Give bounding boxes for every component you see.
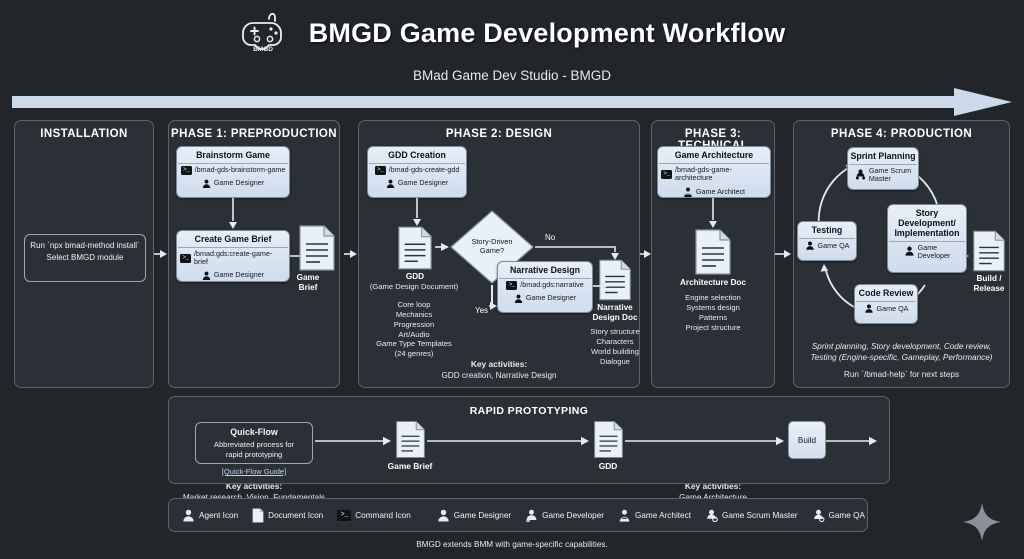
node-code-review-agent: Game QA — [877, 305, 909, 313]
legend-roles-group: Game Designer Game Developer Game Archit… — [430, 509, 872, 522]
node-game-architecture-command-row: >_ /bmad-gds-game-architecture — [658, 164, 770, 185]
rapid-artifact-build[interactable]: Build — [788, 421, 826, 459]
panel-rapid-prototyping: RAPID PROTOTYPING Quick-Flow Abbreviated… — [168, 396, 890, 484]
legend-label-game-developer: Game Developer — [542, 511, 604, 520]
panel-installation-title: INSTALLATION — [15, 128, 153, 140]
legend: Agent Icon Document Icon >_ Command Icon — [168, 498, 868, 532]
node-testing[interactable]: Testing Game QA — [797, 221, 857, 261]
phase-4-note-1: Sprint planning, Story development, Code… — [798, 342, 1005, 353]
node-narrative-design[interactable]: Narrative Design >_ /bmad:gds:narrative … — [497, 261, 593, 313]
phase-2-key-label: Key activities: — [471, 359, 527, 369]
node-create-game-brief-agent: Game Designer — [214, 271, 264, 279]
node-testing-agent: Game QA — [818, 242, 850, 250]
gdd-detail-3: Art/Audio — [364, 330, 464, 340]
quick-flow-guide-link[interactable]: [Quick-Flow Guide] — [195, 467, 313, 476]
agent-icon — [386, 179, 395, 188]
document-icon — [972, 230, 1006, 272]
node-game-architecture-command: /bmad-gds-game-architecture — [675, 166, 767, 183]
game-developer-icon — [904, 246, 915, 257]
node-code-review-title: Code Review — [855, 285, 917, 301]
phase-4-notes: Sprint planning, Story development, Code… — [798, 342, 1005, 364]
artifact-gdd-label: GDD — [381, 272, 449, 282]
node-sprint-planning-agent-row: Game Scrum Master — [848, 165, 918, 184]
node-story-development-title-2: Development/ — [898, 218, 956, 228]
artifact-game-brief: Game Brief — [298, 225, 336, 276]
document-icon — [397, 226, 433, 270]
gdd-detail-2: Progression — [364, 320, 464, 330]
gdd-detail-4: Game Type Templates — [364, 339, 464, 349]
node-story-development-title: Story Development/ Implementation — [888, 205, 966, 241]
node-code-review[interactable]: Code Review Game QA — [854, 284, 918, 324]
workflow-diagram: BMGD BMGD Game Development Workflow BMad… — [0, 0, 1024, 559]
rapid-artifact-game-brief: Game Brief — [395, 420, 426, 464]
artifact-game-brief-label-1: Game — [276, 273, 340, 283]
node-sprint-planning-title: Sprint Planning — [848, 148, 918, 164]
panel-phase-2-title: PHASE 2: DESIGN — [359, 128, 639, 140]
node-quick-flow-line-2: rapid prototyping — [196, 450, 312, 460]
node-game-architecture-title: Game Architecture — [658, 147, 770, 163]
artifact-narrative-label-1: Narrative — [583, 303, 647, 313]
installation-line-2: Select BMGD module — [29, 252, 141, 264]
artifact-architecture-details: Engine selection Systems design Patterns… — [662, 293, 764, 332]
node-narrative-design-agent-row: Game Designer — [498, 292, 592, 305]
legend-label-agent: Agent Icon — [199, 511, 238, 520]
decision-label-2: Game? — [480, 247, 504, 256]
narrative-detail-2: World building — [572, 347, 658, 357]
node-gdd-creation-command: /bmad-gds-create-gdd — [389, 166, 460, 174]
flow-direction-arrow-icon — [12, 88, 1012, 116]
footnote: BMGD extends BMM with game-specific capa… — [0, 540, 1024, 549]
legend-item-agent-icon: Agent Icon — [175, 509, 245, 522]
node-gdd-creation-command-row: >_ /bmad-gds-create-gdd — [368, 164, 466, 177]
document-icon — [298, 225, 336, 271]
node-game-architecture[interactable]: Game Architecture >_ /bmad-gds-game-arch… — [657, 146, 771, 198]
node-story-development-agent-2: Developer — [918, 251, 951, 260]
node-create-game-brief-title: Create Game Brief — [177, 231, 289, 247]
page-title: BMGD Game Development Workflow — [309, 18, 786, 49]
node-narrative-design-command-row: >_ /bmad:gds:narrative — [498, 279, 592, 292]
legend-item-game-scrum-master: Game Scrum Master — [698, 509, 805, 522]
rapid-prototyping-title: RAPID PROTOTYPING — [169, 405, 889, 417]
agent-icon — [202, 271, 211, 280]
architecture-detail-1: Systems design — [662, 303, 764, 313]
command-icon: >_ — [375, 166, 386, 175]
game-architect-icon — [683, 187, 693, 197]
legend-label-game-designer: Game Designer — [454, 511, 511, 520]
node-gdd-creation[interactable]: GDD Creation >_ /bmad-gds-create-gdd Gam… — [367, 146, 467, 198]
game-scrum-master-icon — [855, 169, 866, 180]
node-story-development[interactable]: Story Development/ Implementation Game D… — [887, 204, 967, 273]
document-icon — [252, 508, 264, 523]
installation-command-box: Run `npx bmad-method install` Select BMG… — [24, 234, 146, 282]
phase-2-key-activities: Key activities: GDD creation, Narrative … — [363, 359, 635, 382]
rapid-artifact-gdd-label: GDD — [577, 461, 639, 471]
node-gdd-creation-agent-row: Game Designer — [368, 177, 466, 190]
artifact-gdd: GDD (Game Design Document) Core loop Mec… — [397, 226, 433, 275]
artifact-build-release-label-2: Release — [958, 284, 1020, 294]
panel-phase-4-title: PHASE 4: PRODUCTION — [794, 128, 1009, 140]
node-game-architecture-agent-row: Game Architect — [658, 185, 770, 199]
node-gdd-creation-title: GDD Creation — [368, 147, 466, 163]
document-icon — [593, 420, 624, 459]
artifact-architecture-label: Architecture Doc — [664, 278, 762, 288]
node-brainstorm-game[interactable]: Brainstorm Game >_ /bmad-gds-brainstorm-… — [176, 146, 290, 198]
phase-4-run-note: Run `/bmad-help` for next steps — [798, 370, 1005, 381]
legend-item-game-developer: Game Developer — [518, 509, 611, 522]
artifact-build-release-label-1: Build / — [958, 274, 1020, 284]
legend-basic-group: Agent Icon Document Icon >_ Command Icon — [169, 508, 418, 523]
rapid-artifact-gdd: GDD — [593, 420, 624, 464]
node-quick-flow-line-1: Abbreviated process for — [196, 440, 312, 450]
legend-item-game-qa: Game QA — [805, 509, 872, 522]
node-testing-title: Testing — [798, 222, 856, 238]
node-code-review-agent-row: Game QA — [855, 302, 917, 316]
phase-2-key-text: GDD creation, Narrative Design — [441, 371, 556, 380]
agent-icon — [202, 179, 211, 188]
node-brainstorm-game-agent-row: Game Designer — [177, 177, 289, 190]
legend-item-command-icon: >_ Command Icon — [330, 510, 418, 521]
node-brainstorm-game-agent: Game Designer — [214, 179, 264, 187]
gdd-detail-0: Core loop — [364, 300, 464, 310]
decision-yes-label: Yes — [475, 306, 488, 315]
node-brainstorm-game-title: Brainstorm Game — [177, 147, 289, 163]
header: BMGD BMGD Game Development Workflow BMad… — [0, 8, 1024, 83]
node-story-development-title-3: Implementation — [894, 228, 959, 238]
command-icon: >_ — [661, 170, 672, 179]
node-narrative-design-command: /bmad:gds:narrative — [520, 281, 584, 289]
node-sprint-planning-agent-2: Master — [869, 174, 891, 183]
gamepad-bmgd-logo-icon: BMGD — [239, 8, 297, 58]
artifact-narrative-label-2: Design Doc — [583, 313, 647, 323]
legend-label-game-scrum-master: Game Scrum Master — [722, 511, 798, 520]
legend-item-game-designer: Game Designer — [430, 509, 518, 522]
node-create-game-brief-command-row: >_ /bmad:gds:create-game-brief — [177, 248, 289, 269]
node-quick-flow[interactable]: Quick-Flow Abbreviated process for rapid… — [195, 422, 313, 464]
legend-label-document: Document Icon — [268, 511, 323, 520]
page-subtitle: BMad Game Dev Studio - BMGD — [0, 68, 1024, 83]
artifact-architecture-doc: Architecture Doc Engine selection System… — [694, 229, 732, 280]
node-sprint-planning[interactable]: Sprint Planning Game Scrum Master — [847, 147, 919, 190]
game-designer-icon — [437, 509, 450, 522]
document-icon — [598, 259, 632, 301]
document-icon — [694, 229, 732, 275]
node-story-development-title-1: Story — [916, 208, 939, 218]
game-developer-icon — [525, 509, 538, 522]
game-architect-icon — [618, 509, 631, 522]
command-icon: >_ — [180, 254, 191, 263]
node-brainstorm-game-command: /bmad-gds-brainstorm-game — [195, 166, 286, 174]
node-create-game-brief-agent-row: Game Designer — [177, 269, 289, 282]
node-create-game-brief-command: /bmad:gds:create-game-brief — [194, 250, 286, 267]
architecture-detail-0: Engine selection — [662, 293, 764, 303]
gdd-detail-5: (24 genres) — [364, 349, 464, 359]
panel-phase-3: PHASE 3: TECHNICAL Game Architecture >_ … — [651, 120, 775, 388]
node-story-development-agent-row: Game Developer — [888, 242, 966, 261]
panel-installation: INSTALLATION Run `npx bmad-method instal… — [14, 120, 154, 388]
game-qa-icon — [864, 304, 874, 314]
artifact-game-brief-label-2: Brief — [276, 283, 340, 293]
panel-phase-2: PHASE 2: DESIGN GDD Creation >_ /bmad-gd… — [358, 120, 640, 388]
node-testing-agent-row: Game QA — [798, 239, 856, 253]
agent-icon — [182, 509, 195, 522]
installation-line-1: Run `npx bmad-method install` — [29, 240, 141, 252]
svg-text:BMGD: BMGD — [253, 46, 273, 53]
agent-icon — [514, 294, 523, 303]
four-point-star-icon — [960, 500, 1004, 544]
game-scrum-master-icon — [705, 509, 718, 522]
node-quick-flow-title: Quick-Flow — [196, 423, 312, 440]
artifact-gdd-details: Core loop Mechanics Progression Art/Audi… — [364, 300, 464, 359]
artifact-build-release: Build / Release — [972, 230, 1006, 277]
legend-label-command: Command Icon — [355, 511, 411, 520]
decision-no-label: No — [545, 233, 555, 242]
node-create-game-brief[interactable]: Create Game Brief >_ /bmad:gds:create-ga… — [176, 230, 290, 282]
node-narrative-design-agent: Game Designer — [526, 294, 576, 302]
node-game-architecture-agent: Game Architect — [696, 188, 745, 196]
rapid-artifact-game-brief-label: Game Brief — [377, 461, 443, 471]
node-brainstorm-game-command-row: >_ /bmad-gds-brainstorm-game — [177, 164, 289, 177]
command-icon: >_ — [506, 281, 517, 290]
legend-item-game-architect: Game Architect — [611, 509, 698, 522]
narrative-detail-0: Story structure — [572, 327, 658, 337]
legend-item-document-icon: Document Icon — [245, 508, 330, 523]
panel-phase-1-title: PHASE 1: PREPRODUCTION — [169, 128, 339, 140]
phase-4-note-2: Testing (Engine-specific, Gameplay, Perf… — [798, 353, 1005, 364]
architecture-detail-3: Project structure — [662, 323, 764, 333]
game-qa-icon — [805, 241, 815, 251]
game-qa-icon — [812, 509, 825, 522]
legend-label-game-architect: Game Architect — [635, 511, 691, 520]
architecture-detail-2: Patterns — [662, 313, 764, 323]
legend-label-game-qa: Game QA — [829, 511, 865, 520]
command-icon: >_ — [337, 510, 351, 521]
command-icon: >_ — [181, 166, 192, 175]
artifact-narrative-design-doc: Narrative Design Doc Story structure Cha… — [598, 259, 632, 306]
node-narrative-design-title: Narrative Design — [498, 262, 592, 278]
node-gdd-creation-agent: Game Designer — [398, 179, 448, 187]
narrative-detail-1: Characters — [572, 337, 658, 347]
document-icon — [395, 420, 426, 459]
gdd-detail-1: Mechanics — [364, 310, 464, 320]
